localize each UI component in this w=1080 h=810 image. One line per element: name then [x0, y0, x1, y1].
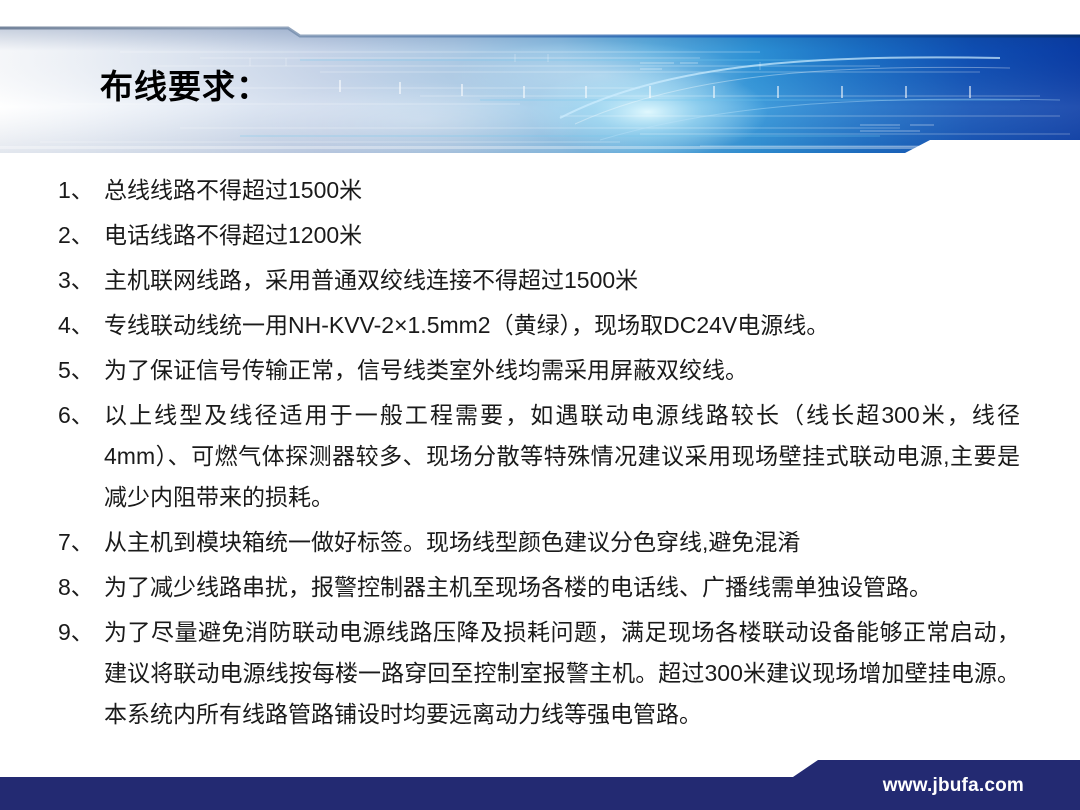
list-item-text: 总线线路不得超过1500米 — [104, 170, 1080, 211]
list-item: 6、 以上线型及线径适用于一般工程需要，如遇联动电源线路较长（线长超300米，线… — [0, 395, 1080, 518]
list-item: 3、 主机联网线路，采用普通双绞线连接不得超过1500米 — [0, 260, 1080, 301]
list-item-number: 5、 — [0, 350, 104, 391]
list-item-number: 7、 — [0, 522, 104, 563]
list-item-text: 电话线路不得超过1200米 — [104, 215, 1080, 256]
list-item-text: 以上线型及线径适用于一般工程需要，如遇联动电源线路较长（线长超300米，线径4m… — [104, 395, 1080, 518]
list-item: 7、 从主机到模块箱统一做好标签。现场线型颜色建议分色穿线,避免混淆 — [0, 522, 1080, 563]
list-item-number: 4、 — [0, 305, 104, 346]
list-item-number: 8、 — [0, 567, 104, 608]
list-item-text: 从主机到模块箱统一做好标签。现场线型颜色建议分色穿线,避免混淆 — [104, 522, 1080, 563]
list-item: 5、 为了保证信号传输正常，信号线类室外线均需采用屏蔽双绞线。 — [0, 350, 1080, 391]
list-item-number: 1、 — [0, 170, 104, 211]
list-item-text: 为了减少线路串扰，报警控制器主机至现场各楼的电话线、广播线需单独设管路。 — [104, 567, 1080, 608]
website-url[interactable]: www.jbufa.com — [883, 775, 1024, 797]
footer-bar: www.jbufa.com — [0, 752, 1080, 810]
requirements-list: 1、 总线线路不得超过1500米 2、 电话线路不得超过1200米 3、 主机联… — [0, 170, 1080, 735]
list-item-number: 9、 — [0, 612, 104, 653]
requirements-content: 1、 总线线路不得超过1500米 2、 电话线路不得超过1200米 3、 主机联… — [0, 170, 1080, 739]
list-item-text: 专线联动线统一用NH-KVV-2×1.5mm2（黄绿），现场取DC24V电源线。 — [104, 305, 1080, 346]
list-item: 2、 电话线路不得超过1200米 — [0, 215, 1080, 256]
page-title: 布线要求： — [100, 70, 270, 103]
list-item-number: 3、 — [0, 260, 104, 301]
list-item-number: 2、 — [0, 215, 104, 256]
list-item-number: 6、 — [0, 395, 104, 436]
list-item: 4、 专线联动线统一用NH-KVV-2×1.5mm2（黄绿），现场取DC24V电… — [0, 305, 1080, 346]
list-item-text: 为了尽量避免消防联动电源线路压降及损耗问题，满足现场各楼联动设备能够正常启动，建… — [104, 612, 1080, 735]
list-item: 9、 为了尽量避免消防联动电源线路压降及损耗问题，满足现场各楼联动设备能够正常启… — [0, 612, 1080, 735]
header-banner: 布线要求： — [0, 0, 1080, 165]
list-item: 1、 总线线路不得超过1500米 — [0, 170, 1080, 211]
list-item-text: 为了保证信号传输正常，信号线类室外线均需采用屏蔽双绞线。 — [104, 350, 1080, 391]
list-item: 8、 为了减少线路串扰，报警控制器主机至现场各楼的电话线、广播线需单独设管路。 — [0, 567, 1080, 608]
list-item-text: 主机联网线路，采用普通双绞线连接不得超过1500米 — [104, 260, 1080, 301]
